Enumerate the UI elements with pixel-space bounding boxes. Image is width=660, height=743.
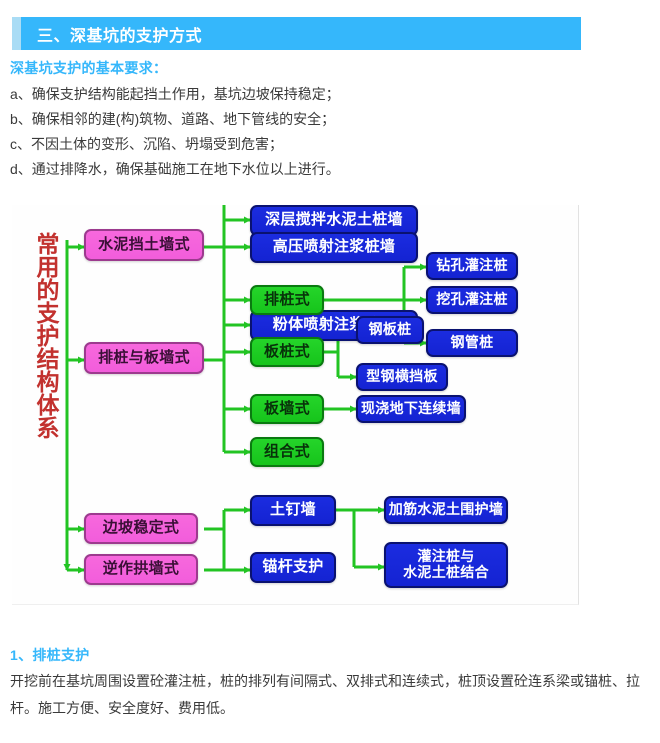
node-section-steel-plank[interactable]: 型钢横挡板	[356, 363, 448, 391]
node-anchor-support[interactable]: 锚杆支护	[250, 552, 336, 583]
node-dug-cast-pile[interactable]: 挖孔灌注桩	[426, 286, 518, 314]
requirement-item: d、通过排降水，确保基础施工在地下水位以上进行。	[10, 157, 630, 182]
page-root: 三、深基坑的支护方式 深基坑支护的基本要求： a、确保支护结构能起挡土作用，基坑…	[0, 0, 660, 743]
section-header: 三、深基坑的支护方式	[12, 17, 581, 50]
node-soil-nail-wall[interactable]: 土钉墙	[250, 495, 336, 526]
header-bar: 三、深基坑的支护方式	[21, 17, 581, 50]
node-sheet-pile[interactable]: 板桩式	[250, 337, 324, 367]
node-pile-plank-wall[interactable]: 排桩与板墙式	[84, 342, 204, 374]
page-title: 三、深基坑的支护方式	[21, 22, 202, 46]
node-steel-sheet-pile[interactable]: 钢板桩	[356, 316, 424, 344]
diagram-root-title: 常用的支护结构体系	[24, 215, 58, 455]
node-slope-stability[interactable]: 边坡稳定式	[84, 513, 198, 544]
body-paragraph: 开挖前在基坑周围设置砼灌注桩，桩的排列有间隔式、双排式和连续式，桩顶设置砼连系梁…	[10, 668, 650, 722]
support-structure-diagram: 常用的支护结构体系 水泥挡土墙式 排桩与板墙式 边坡稳定式 逆作拱墙式 深层搅拌…	[12, 205, 579, 605]
node-row-pile[interactable]: 排桩式	[250, 285, 324, 315]
header-accent-strip	[12, 17, 21, 50]
node-reinforced-cement-soil-wall[interactable]: 加筋水泥土围护墙	[384, 496, 508, 524]
requirement-item: a、确保支护结构能起挡土作用，基坑边坡保持稳定；	[10, 82, 630, 107]
node-plank-wall[interactable]: 板墙式	[250, 394, 324, 424]
requirements-list: a、确保支护结构能起挡土作用，基坑边坡保持稳定； b、确保相邻的建(构)筑物、道…	[10, 82, 630, 182]
node-steel-pipe-pile[interactable]: 钢管桩	[426, 329, 518, 357]
node-cement-wall[interactable]: 水泥挡土墙式	[84, 229, 204, 261]
node-reverse-arch-wall[interactable]: 逆作拱墙式	[84, 554, 198, 585]
node-jet-grouting-wall[interactable]: 高压喷射注浆桩墙	[250, 232, 418, 263]
node-cast-in-situ-diaphragm-wall[interactable]: 现浇地下连续墙	[356, 395, 466, 423]
requirement-item: b、确保相邻的建(构)筑物、道路、地下管线的安全；	[10, 107, 630, 132]
subsection-title: 1、排桩支护	[10, 645, 90, 665]
node-composite[interactable]: 组合式	[250, 437, 324, 467]
node-cast-pile-cement-soil-combo[interactable]: 灌注桩与 水泥土桩结合	[384, 542, 508, 588]
intro-title: 深基坑支护的基本要求：	[10, 58, 167, 78]
requirement-item: c、不因土体的变形、沉陷、坍塌受到危害；	[10, 132, 630, 157]
node-bored-cast-pile[interactable]: 钻孔灌注桩	[426, 252, 518, 280]
